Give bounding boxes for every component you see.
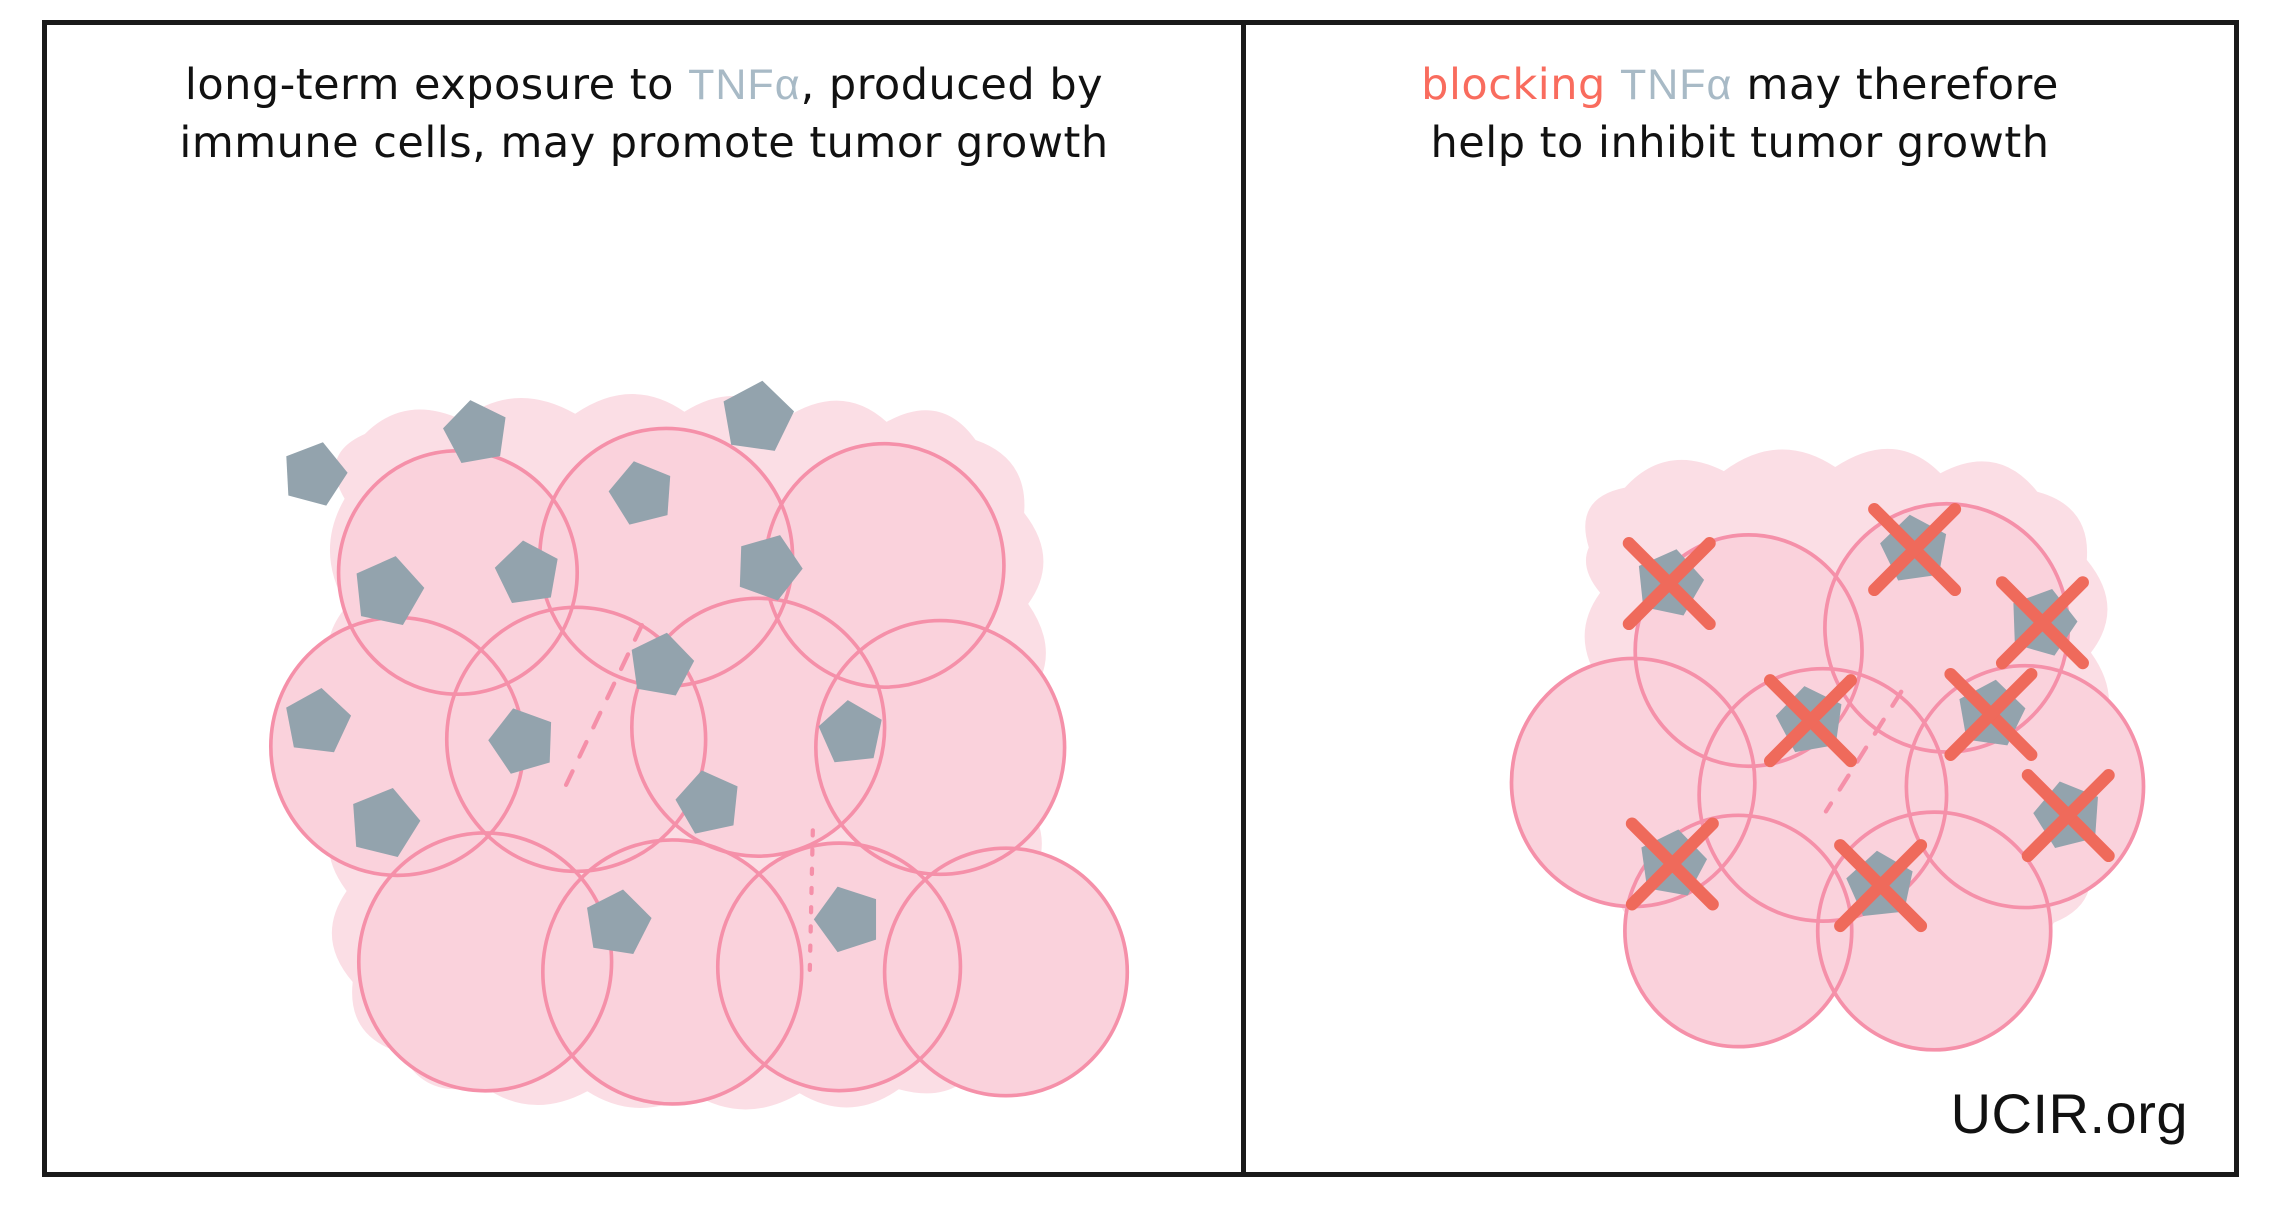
blocked-immune-cell: [1629, 543, 1710, 624]
immune-cell: [286, 442, 347, 505]
blocked-immune-cell: [1874, 509, 1955, 590]
right-scene-group: [1511, 449, 2143, 1050]
right-tumor-illustration: [1246, 25, 2234, 1172]
right-cluster-svg: [1246, 25, 2234, 1172]
tumor-growth-panel: long-term exposure to TNFα, produced by …: [47, 25, 1246, 1172]
ucir-wordmark: UCIR.org: [1951, 1081, 2188, 1146]
blocked-immune-cell: [1770, 680, 1851, 761]
left-tumor-illustration: [47, 25, 1241, 1172]
blocked-immune-cell: [1951, 674, 2032, 755]
figure-frame: long-term exposure to TNFα, produced by …: [42, 20, 2239, 1177]
blocked-immune-cell: [1632, 824, 1713, 905]
blocked-immune-cell: [1840, 845, 1921, 926]
blocked-immune-cell: [2028, 775, 2109, 856]
figure-root: long-term exposure to TNFα, produced by …: [0, 0, 2281, 1205]
left-scene-group: [271, 381, 1127, 1110]
left-cluster-svg: [47, 25, 1241, 1172]
immune-cell-pentagon-icon: [286, 442, 347, 505]
tnf-blocking-panel: blocking TNFα may therefore help to inhi…: [1246, 25, 2234, 1172]
blocked-immune-cell: [2002, 582, 2083, 663]
